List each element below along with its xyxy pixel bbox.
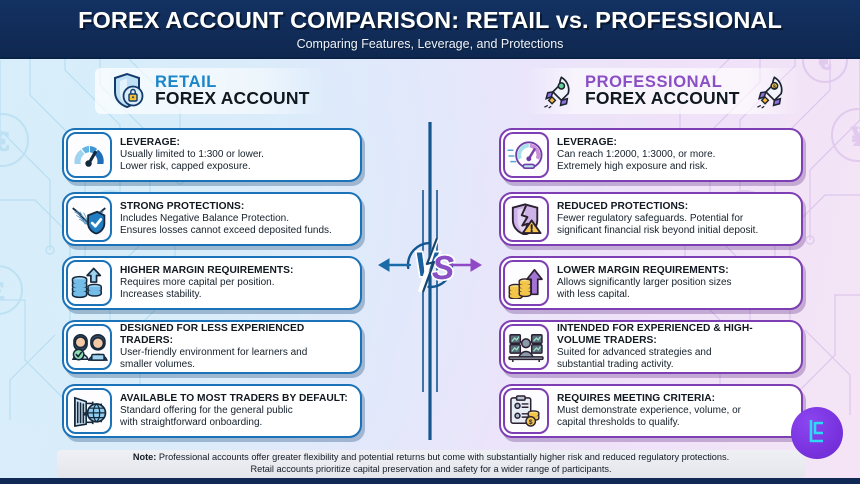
icon-container: $ [503,388,549,434]
retail-card-protections[interactable]: STRONG PROTECTIONS: Includes Negative Ba… [62,192,362,246]
card-text: REDUCED PROTECTIONS: Fewer regulatory sa… [549,201,801,237]
open-door-globe-icon [70,395,108,427]
note-line2: Retail accounts prioritize capital prese… [250,464,611,476]
card-text: LEVERAGE: Usually limited to 1:300 or lo… [112,137,360,173]
vs-label-s-fill: S [432,249,454,286]
icon-container [503,132,549,178]
multi-monitor-trader-icon [507,331,545,363]
gauge-icon [71,140,107,170]
brand-c-logo [802,417,832,449]
card-body-line1: Allows significantly larger position siz… [557,277,794,289]
infographic-canvas: € £ $ ¥ € $ FORE [0,0,860,484]
icon-container [66,388,112,434]
safety-net-shield-check-icon [70,203,108,235]
retail-card-availability[interactable]: AVAILABLE TO MOST TRADERS BY DEFAULT: St… [62,384,362,438]
card-body-line2: Lower risk, capped exposure. [120,161,353,173]
vs-label-v-fill: V [414,246,440,284]
pro-heading-text: PROFESSIONAL FOREX ACCOUNT [585,74,740,109]
card-body-line1: Fewer regulatory safeguards. Potential f… [557,213,794,225]
card-text: LOWER MARGIN REQUIREMENTS: Allows signif… [549,265,801,301]
note-line1: Note: Professional accounts offer greate… [133,452,729,464]
svg-text:$: $ [773,85,776,91]
two-traders-check-icon [70,331,108,363]
vs-label-s: S [432,249,454,286]
pro-card-criteria[interactable]: $ REQUIRES MEETING CRITERIA: Must demons… [499,384,803,438]
retail-heading-text: RETAIL FOREX ACCOUNT [155,74,310,109]
card-title: AVAILABLE TO MOST TRADERS BY DEFAULT: [120,393,353,404]
header-bar: FOREX ACCOUNT COMPARISON: RETAIL vs. PRO… [0,0,860,59]
card-title: LOWER MARGIN REQUIREMENTS: [557,265,794,276]
svg-text:€: € [0,127,9,156]
pro-heading-line2: FOREX ACCOUNT [585,90,740,108]
card-text: LEVERAGE: Can reach 1:2000, 1:3000, or m… [549,137,801,173]
card-body-line2: Ensures losses cannot exceed deposited f… [120,225,353,237]
card-title: LEVERAGE: [557,137,794,148]
clipboard-criteria-coins-icon: $ [508,395,544,427]
card-body-line1: Requires more capital per position. [120,277,353,289]
card-body-line1: Usually limited to 1:300 or lower. [120,149,353,161]
speedometer-icon [507,139,545,171]
vs-label-v: V [414,246,440,284]
broken-shield-warning-icon [508,203,544,235]
card-body-line2: significant financial risk beyond initia… [557,225,794,237]
pro-card-experience[interactable]: INTENDED FOR EXPERIENCED & HIGH-VOLUME T… [499,320,803,374]
pro-card-margin[interactable]: LOWER MARGIN REQUIREMENTS: Allows signif… [499,256,803,310]
card-body-line2: smaller volumes. [120,359,353,371]
card-body-line1: Suited for advanced strategies and [557,347,794,359]
column-heading-retail: RETAIL FOREX ACCOUNT [95,68,326,114]
page-subtitle: Comparing Features, Leverage, and Protec… [297,37,564,51]
retail-heading-line2: FOREX ACCOUNT [155,90,310,108]
card-body-line1: Must demonstrate experience, volume, or [557,405,794,417]
pro-card-leverage[interactable]: LEVERAGE: Can reach 1:2000, 1:3000, or m… [499,128,803,182]
footer-note: Note: Professional accounts offer greate… [57,450,805,478]
card-body-line2: capital thresholds to qualify. [557,417,794,429]
card-title: LEVERAGE: [120,137,353,148]
card-title: INTENDED FOR EXPERIENCED & HIGH-VOLUME T… [557,323,794,346]
svg-text:£: £ [0,279,4,305]
shield-lock-icon [111,72,145,110]
card-text: INTENDED FOR EXPERIENCED & HIGH-VOLUME T… [549,323,801,370]
card-text: STRONG PROTECTIONS: Includes Negative Ba… [112,201,360,237]
icon-container [503,196,549,242]
coin-stacks-up-arrow-icon [71,267,107,299]
card-text: AVAILABLE TO MOST TRADERS BY DEFAULT: St… [112,393,360,429]
card-title: STRONG PROTECTIONS: [120,201,353,212]
retail-card-leverage[interactable]: LEVERAGE: Usually limited to 1:300 or lo… [62,128,362,182]
page-title: FOREX ACCOUNT COMPARISON: RETAIL vs. PRO… [78,7,782,34]
icon-container [66,196,112,242]
icon-container [66,260,112,306]
card-body-line2: Extremely high exposure and risk. [557,161,794,173]
card-text: HIGHER MARGIN REQUIREMENTS: Requires mor… [112,265,360,301]
icon-container [66,324,112,370]
icon-container [503,260,549,306]
svg-text:$: $ [529,419,533,426]
card-body-line2: with straightforward onboarding. [120,417,353,429]
card-title: DESIGNED FOR LESS EXPERIENCED TRADERS: [120,323,353,346]
bottom-bar [0,478,860,484]
svg-text:¥: ¥ [852,122,860,151]
card-title: REQUIRES MEETING CRITERIA: [557,393,794,404]
icon-container [66,132,112,178]
note-line1-text: Professional accounts offer greater flex… [156,452,729,462]
card-body-line2: with less capital. [557,289,794,301]
brand-logo-badge[interactable] [791,407,843,459]
column-heading-professional: PROFESSIONAL FOREX ACCOUNT $ [525,68,804,114]
pro-card-protections[interactable]: REDUCED PROTECTIONS: Fewer regulatory sa… [499,192,803,246]
card-body-line2: substantial trading activity. [557,359,794,371]
card-body-line1: User-friendly environment for learners a… [120,347,353,359]
icon-container [503,324,549,370]
rocket-dollar-icon: $ [754,72,788,110]
card-body-line1: Includes Negative Balance Protection. [120,213,353,225]
card-title: REDUCED PROTECTIONS: [557,201,794,212]
rocket-icon [541,72,575,110]
vs-arrows [379,259,481,271]
retail-card-margin[interactable]: HIGHER MARGIN REQUIREMENTS: Requires mor… [62,256,362,310]
card-body-line1: Standard offering for the general public [120,405,353,417]
gold-coins-up-arrow-icon [508,267,544,299]
card-text: DESIGNED FOR LESS EXPERIENCED TRADERS: U… [112,323,360,370]
card-title: HIGHER MARGIN REQUIREMENTS: [120,265,353,276]
card-body-line1: Can reach 1:2000, 1:3000, or more. [557,149,794,161]
card-text: REQUIRES MEETING CRITERIA: Must demonstr… [549,393,801,429]
note-prefix: Note: [133,452,156,462]
retail-card-experience[interactable]: DESIGNED FOR LESS EXPERIENCED TRADERS: U… [62,320,362,374]
card-body-line2: Increases stability. [120,289,353,301]
